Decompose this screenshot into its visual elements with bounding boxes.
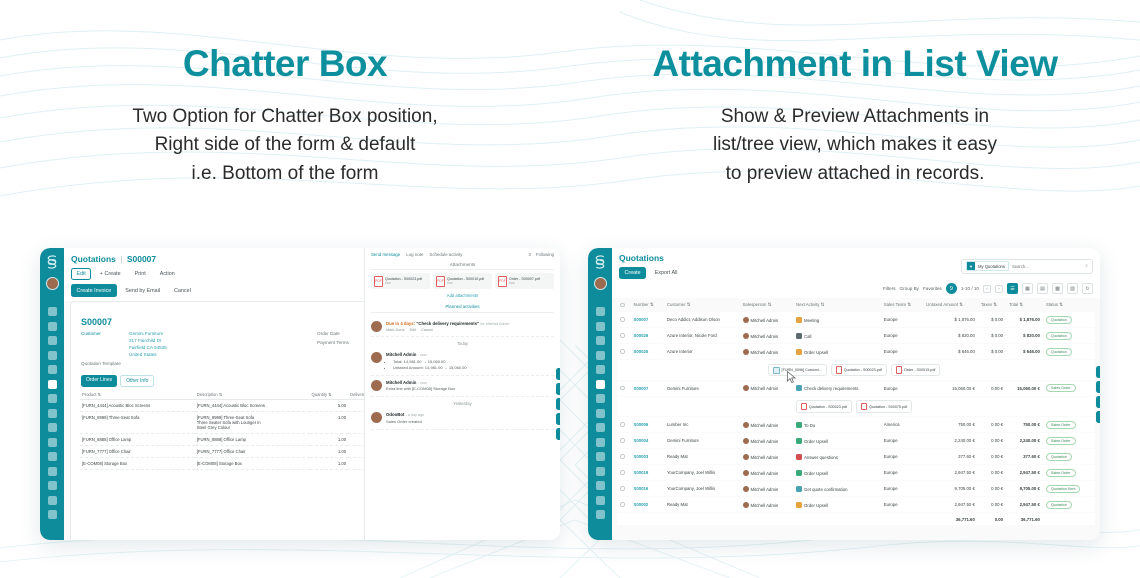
cell-total: $ 646.00 (1006, 344, 1043, 359)
pdf-icon (801, 403, 807, 411)
sidebar-item-contacts[interactable] (596, 467, 605, 476)
avatar[interactable] (46, 277, 59, 290)
settings-icon[interactable]: ⚙ (1096, 366, 1100, 378)
attachment-chip[interactable]: PDFOrder - S00007.pdfPDF (495, 273, 554, 289)
log-note-button[interactable]: Log note (406, 252, 423, 257)
message-body: Sales Order created (386, 419, 424, 425)
cell-customer: Ready Mat (664, 497, 740, 512)
action-button[interactable]: Action (154, 268, 180, 280)
column-header-untaxed-amount[interactable]: Untaxed Amount ⇅ (923, 299, 978, 311)
breadcrumb-separator: | (120, 254, 122, 264)
sidebar-item-sales[interactable] (48, 380, 57, 389)
cell-select[interactable] (617, 497, 630, 512)
field-quotation-template-label: Quotation Template (81, 361, 123, 366)
cell-status: Sales Order (1043, 381, 1095, 396)
app-logo-icon (43, 253, 61, 271)
status-badge: Sales Order (1046, 469, 1076, 477)
column-header-number[interactable]: Number ⇅ (630, 299, 663, 311)
cell-next-activity: Order Upsell (793, 344, 881, 359)
avatar (371, 412, 382, 423)
attachment-cell: [FURN_0096] Customi...Quotation - S00023… (617, 360, 1095, 380)
row-checkbox[interactable] (620, 470, 625, 475)
column-header-total[interactable]: Total ⇅ (1006, 299, 1043, 311)
search-icon[interactable]: ⌕ (1085, 263, 1088, 269)
page-title-chatter-box: Chatter Box (0, 44, 570, 85)
cell-quantity: 1.00 (310, 445, 349, 457)
cell-sales-team: Europe (881, 465, 924, 480)
attachment-type: PDF (447, 281, 484, 285)
row-checkbox[interactable] (620, 454, 625, 459)
pager-next-icon[interactable]: › (995, 285, 1003, 293)
message-bullet: Untaxed Amount: 14,981.00 → 15,060.00 (393, 365, 467, 371)
field-customer-label: Customer (81, 331, 123, 359)
sidebar-item-tag[interactable] (48, 322, 57, 331)
list-control-panel: Quotations Create Export All ▼ My Quotat… (612, 248, 1100, 298)
add-attachments-button[interactable]: Add attachments (371, 293, 554, 298)
cell-taxes: 0.00 € (978, 417, 1006, 432)
cell-description: [FURN_8999] Three-Seat Sofa Three Seater… (195, 411, 310, 433)
avatar (371, 380, 382, 391)
mark-done-button[interactable]: Mark Done (386, 328, 405, 332)
cell-select[interactable] (617, 433, 630, 448)
layers-icon[interactable]: ▤ (1096, 411, 1100, 423)
cell-number: S00004 (630, 433, 663, 448)
page-subtitle-chatter-box: Two Option for Chatter Box position, Rig… (0, 103, 570, 189)
sidebar-item-employees[interactable] (596, 481, 605, 490)
filters-dropdown[interactable]: Filters (883, 286, 896, 291)
followers-count[interactable]: 3 (528, 252, 530, 257)
status-badge: Quotation (1046, 348, 1072, 356)
cell-status: Quotation (1043, 497, 1095, 512)
row-checkbox[interactable] (620, 333, 625, 338)
cell-taxes: 0.00 € (978, 481, 1006, 496)
cell-number: S00002 (630, 497, 663, 512)
status-badge: Sales Order (1046, 437, 1076, 445)
status-badge: Sales Order (1046, 384, 1076, 392)
send-by-email-button[interactable]: Send by Email (120, 284, 166, 296)
form-view-screenshot: Quotations | S00007 1 1/1 ‹ › Edit + Cre… (40, 248, 560, 540)
create-button[interactable]: Create (619, 267, 646, 279)
cell-customer: Gemini Furniture (664, 433, 740, 448)
cell-number: S00007 (630, 312, 663, 327)
cell-next-activity: Order Upsell (793, 433, 881, 448)
cell-number: S00026 (630, 328, 663, 343)
attachments-title: Attachments (371, 262, 554, 270)
cell-untaxed-amount: $ 646.00 (923, 344, 978, 359)
message-body: Total: 14,981.00 → 15,060.00Untaxed Amou… (386, 359, 467, 371)
cell-status: Sales Order (1043, 417, 1095, 432)
attachment-name: Quotation - S00023.pdf (809, 405, 847, 409)
message-time: - now (418, 381, 427, 385)
search-facet-label: My Quotations (975, 264, 1008, 269)
cell-untaxed-amount: 9,705.00 € (923, 481, 978, 496)
cell-sales-team: Europe (881, 481, 924, 496)
search-bar[interactable]: ▼ My Quotations ⌕ (961, 259, 1093, 274)
chat-icon[interactable]: ▣ (556, 428, 560, 440)
field-customer-value[interactable]: Gemini Furniture 317 Fairchild Dr Fairfi… (129, 331, 167, 359)
cell-select[interactable] (617, 449, 630, 464)
cell-untaxed-amount: 15,060.00 € (923, 381, 978, 396)
summary-row: 36,771.600.0036,771.60 (617, 513, 1095, 525)
pager-position: 1-10 / 10 (961, 286, 979, 291)
cell-taxes: $ 0.00 (978, 344, 1006, 359)
cell-total: 377.60 € (1006, 449, 1043, 464)
cell-next-activity: Call (793, 328, 881, 343)
cell-salesperson: Mitchell Admin (740, 417, 793, 432)
sidebar-item-purchase[interactable] (596, 452, 605, 461)
create-invoice-button[interactable]: Create Invoice (71, 284, 117, 296)
table-row[interactable]: S00026Azure Interior, Nicole FordMitchel… (617, 328, 1095, 343)
cell-sales-team: Europe (881, 344, 924, 359)
planned-activities-title: Planned activities (371, 304, 554, 313)
sidebar-item-calendar[interactable] (48, 336, 57, 345)
sidebar-item-tools[interactable] (596, 423, 605, 432)
sidebar-item-inventory[interactable] (48, 394, 57, 403)
cell-salesperson: Mitchell Admin (740, 328, 793, 343)
pdf-icon: PDF (436, 276, 445, 287)
chatter-actions: Send message Log note Schedule activity (371, 252, 462, 257)
chatter-followers: 3 Following (528, 252, 554, 257)
column-header-description[interactable]: Description ⇅ (195, 390, 310, 400)
kanban-icon[interactable]: ▦ (1022, 283, 1033, 294)
cell-number: S00025 (630, 344, 663, 359)
sidebar-item-shield[interactable] (596, 365, 605, 374)
tab-order-lines[interactable]: Order Lines (81, 375, 117, 387)
list-pane: Quotations Create Export All ▼ My Quotat… (612, 248, 1100, 540)
chatter-message: Mitchell Admin - nowTotal: 14,981.00 → 1… (371, 348, 554, 376)
cell-salesperson: Mitchell Admin (740, 497, 793, 512)
cell-taxes: $ 0.00 (978, 312, 1006, 327)
filter-icon: ▼ (967, 262, 975, 270)
sidebar-item-tag[interactable] (596, 322, 605, 331)
cell-salesperson: Mitchell Admin (740, 481, 793, 496)
pdf-icon: PDF (498, 276, 507, 287)
table-row[interactable]: S00006Lumber IncMitchell AdminTo DoAmeri… (617, 417, 1095, 432)
cell-customer: YourCompany, Joel Willis (664, 481, 740, 496)
table-row[interactable]: S00007Deco Addict, Addison OlsonMitchell… (617, 312, 1095, 327)
attachment-type: PDF (509, 281, 540, 285)
cell-untaxed-amount: 2,240.00 € (923, 433, 978, 448)
column-header-product[interactable]: Product ⇅ (80, 390, 195, 400)
attachment-chip[interactable]: Quotation - S00023.pdf (796, 400, 852, 413)
cell-number: S00006 (630, 417, 663, 432)
pdf-icon: PDF (374, 276, 383, 287)
cell-select[interactable] (617, 417, 630, 432)
cell-sales-team: Europe (881, 381, 924, 396)
cell-select[interactable] (617, 344, 630, 359)
app-sidebar-left[interactable] (40, 248, 64, 540)
cell-taxes: 0.00 € (978, 433, 1006, 448)
star-icon[interactable]: ★ (556, 368, 560, 380)
unread-count-badge[interactable]: 9 (946, 283, 957, 294)
column-header-status[interactable]: Status ⇅ (1043, 299, 1095, 311)
summary-untaxed: 36,771.60 (923, 513, 978, 525)
attachment-chip[interactable]: Quotation - S00075.pdf (856, 400, 912, 413)
column-header-next-activity[interactable]: Next Activity ⇅ (793, 299, 881, 311)
field-payment-terms-label: Payment Terms (317, 340, 359, 345)
favorites-dropdown[interactable]: Favorites (923, 286, 942, 291)
cell-product: [FURN_7777] Office Chair (80, 445, 195, 457)
cell-untaxed-amount: 2,947.50 € (923, 497, 978, 512)
pdf-icon (836, 366, 842, 374)
heading-column-left: Chatter Box Two Option for Chatter Box p… (0, 0, 570, 210)
attachment-type: PDF (385, 281, 422, 285)
attachment-chip[interactable]: [FURN_0096] Customi... (768, 364, 827, 376)
cell-next-activity: To Do (793, 417, 881, 432)
table-row[interactable]: S00004Gemini FurnitureMitchell AdminOrde… (617, 433, 1095, 448)
graph-icon[interactable]: ▨ (1067, 283, 1078, 294)
message-author: Mitchell Admin (386, 380, 416, 385)
create-button[interactable]: + Create (94, 268, 126, 280)
print-button[interactable]: Print (129, 268, 151, 280)
cell-salesperson: Mitchell Admin (740, 449, 793, 464)
sidebar-item-apps[interactable] (48, 496, 57, 505)
attachment-cell: Quotation - S00023.pdfQuotation - S00075… (617, 397, 1095, 417)
attachment-row: [FURN_0096] Customi...Quotation - S00023… (617, 360, 1095, 380)
sidebar-item-reports[interactable] (596, 438, 605, 447)
sidebar-item-grid[interactable] (596, 409, 605, 418)
sidebar-item-calendar[interactable] (596, 336, 605, 345)
cell-taxes: 0.00 € (978, 465, 1006, 480)
settings-icon[interactable]: ⚙ (556, 413, 560, 425)
status-badge: Quotation (1046, 332, 1072, 340)
select-all-checkbox[interactable] (620, 303, 625, 308)
search-icon[interactable]: ⌕ (1096, 381, 1100, 393)
cancel-activity-button[interactable]: Cancel (421, 328, 433, 332)
edit-activity-button[interactable]: Edit (410, 328, 417, 332)
column-header-sales-team[interactable]: Sales Team ⇅ (881, 299, 924, 311)
sidebar-item-apps[interactable] (596, 496, 605, 505)
table-row[interactable]: S00025Azure InteriorMitchell AdminOrder … (617, 344, 1095, 359)
sidebar-item-grid[interactable] (48, 409, 57, 418)
cell-select[interactable] (617, 481, 630, 496)
status-badge: Quotation (1046, 316, 1072, 324)
cell-next-activity: Check delivery requirements (793, 381, 881, 396)
row-checkbox[interactable] (620, 422, 625, 427)
attachment-chip[interactable]: PDFQuotation - S00010.pdfPDF (433, 273, 492, 289)
cell-salesperson: Mitchell Admin (740, 433, 793, 448)
cell-untaxed-amount: 2,947.50 € (923, 465, 978, 480)
sidebar-icon-list (596, 307, 605, 519)
sidebar-item-tools[interactable] (48, 423, 57, 432)
column-header-salesperson[interactable]: Salesperson ⇅ (740, 299, 793, 311)
sidebar-item-purchase[interactable] (48, 452, 57, 461)
row-checkbox[interactable] (620, 386, 625, 391)
row-checkbox[interactable] (620, 438, 625, 443)
activity-options: Mark Done Edit Cancel (386, 328, 509, 332)
field-order-date-label: Order Date (317, 331, 359, 338)
cell-status: Quotation (1043, 328, 1095, 343)
table-row[interactable]: S00007Gemini FurnitureMitchell AdminChec… (617, 381, 1095, 396)
form-fields-left: Customer Gemini Furniture 317 Fairchild … (81, 331, 307, 369)
pivot-icon[interactable]: ▩ (1052, 283, 1063, 294)
message-author: Mitchell Admin (386, 352, 416, 357)
row-checkbox[interactable] (620, 486, 625, 491)
attachment-chip[interactable]: Quotation - S00023.pdf (831, 364, 887, 377)
cell-sales-team: Europe (881, 449, 924, 464)
cell-next-activity: Answer questions (793, 449, 881, 464)
status-badge: Sales Order (1046, 421, 1076, 429)
breadcrumb: Quotations | S00007 (71, 254, 156, 264)
avatar[interactable] (594, 277, 607, 290)
sidebar-item-reports[interactable] (48, 438, 57, 447)
cell-status: Sales Order (1043, 433, 1095, 448)
cell-customer: Azure Interior, Nicole Ford (664, 328, 740, 343)
cell-total: 750.00 € (1006, 417, 1043, 432)
cancel-button[interactable]: Cancel (169, 284, 197, 296)
cell-customer: Gemini Furniture (664, 381, 740, 396)
sidebar-item-inbox[interactable] (596, 307, 605, 316)
cell-quantity: 1.00 (310, 411, 349, 433)
cell-customer: Ready Mat (664, 449, 740, 464)
column-header-customer[interactable]: Customer ⇅ (664, 299, 740, 311)
row-checkbox[interactable] (620, 502, 625, 507)
app-sidebar-right[interactable] (588, 248, 612, 540)
schedule-activity-button[interactable]: Schedule activity (429, 252, 462, 257)
search-icon[interactable]: ⌕ (556, 383, 560, 395)
cell-customer: YourCompany, Joel Willis (664, 465, 740, 480)
heading-column-right: Attachment in List View Show & Preview A… (570, 0, 1140, 210)
edit-button[interactable]: Edit (71, 268, 91, 280)
tab-other-info[interactable]: Other Info (120, 375, 154, 387)
summary-taxes: 0.00 (978, 513, 1006, 525)
sidebar-item-book[interactable] (596, 351, 605, 360)
sidebar-item-inbox[interactable] (48, 307, 57, 316)
cell-sales-team: America (881, 417, 924, 432)
sidebar-item-book[interactable] (48, 351, 57, 360)
chatter-panel: Send message Log note Schedule activity … (364, 248, 560, 540)
attachment-row: Quotation - S00023.pdfQuotation - S00075… (617, 397, 1095, 417)
table-row[interactable]: S00002Ready MatMitchell AdminOrder Upsel… (617, 497, 1095, 512)
cell-total: 15,060.00 € (1006, 381, 1043, 396)
mouse-cursor-icon (787, 371, 796, 384)
cell-untaxed-amount: 750.00 € (923, 417, 978, 432)
table-row[interactable]: S00019YourCompany, Joel WillisMitchell A… (617, 465, 1095, 480)
cell-product: [FURN_8888] Office Lamp (80, 433, 195, 445)
table-row[interactable]: S00003Ready MatMitchell AdminAnswer ques… (617, 449, 1095, 464)
calendar-icon[interactable]: ▤ (1037, 283, 1048, 294)
sidebar-item-employees[interactable] (48, 481, 57, 490)
attachment-chip[interactable]: PDFQuotation - S00023.pdfPDF (371, 273, 430, 289)
cell-select[interactable] (617, 312, 630, 327)
sidebar-item-sales[interactable] (596, 380, 605, 389)
cell-status: Quotation (1043, 344, 1095, 359)
group-by-dropdown[interactable]: Group By (900, 286, 919, 291)
message-time: - a day ago (406, 413, 424, 417)
field-quotation-template: Quotation Template (81, 361, 307, 366)
search-facet-my-quotations[interactable]: ▼ My Quotations (966, 261, 1009, 271)
sidebar-item-settings[interactable] (596, 510, 605, 519)
message-author: OdooBot (386, 412, 404, 417)
pager-previous-icon[interactable]: ‹ (983, 285, 991, 293)
expand-icon[interactable]: ⛶ (1096, 396, 1100, 408)
cell-quantity: 1.00 (310, 433, 349, 445)
cell-status: Quotation (1043, 449, 1095, 464)
list-icon[interactable]: ☰ (1007, 283, 1018, 294)
column-header-quantity[interactable]: Quantity ⇅ (310, 390, 349, 400)
following-label[interactable]: Following (536, 252, 554, 257)
export-all-button[interactable]: Export All (649, 267, 683, 279)
avatar (371, 321, 382, 332)
form-pane: Quotations | S00007 1 1/1 ‹ › Edit + Cre… (64, 248, 560, 540)
search-input[interactable] (1012, 264, 1082, 269)
chatter-message-list: Mitchell Admin - nowTotal: 14,981.00 → 1… (371, 348, 554, 430)
message-time: - now (418, 353, 427, 357)
list-filter-row: Filters Group By Favorites 9 1-10 / 10 ‹… (619, 283, 1093, 294)
activity-item: Due in 4 days: "Check delivery requireme… (371, 317, 554, 337)
cell-taxes: 0.00 € (978, 381, 1006, 396)
cell-product: [E-COM08] Storage Box (80, 457, 195, 469)
cell-description: [FURN_8888] Office Lamp (195, 433, 310, 445)
breadcrumb: Quotations (619, 253, 683, 263)
breadcrumb-record: S00007 (127, 254, 156, 264)
column-header-taxes[interactable]: Taxes ⇅ (978, 299, 1006, 311)
cell-select[interactable] (617, 381, 630, 396)
attachment-name: Quotation - S00023.pdf (844, 368, 882, 372)
cell-product: [FURN_8999] Three-Seat Sofa (80, 411, 195, 433)
cell-total: 2,947.50 € (1006, 465, 1043, 480)
row-checkbox[interactable] (620, 317, 625, 322)
cell-customer: Lumber Inc (664, 417, 740, 432)
cell-next-activity: Order Upsell (793, 497, 881, 512)
avatar (371, 352, 382, 363)
pdf-icon (896, 366, 902, 374)
sidebar-item-settings[interactable] (48, 510, 57, 519)
cell-salesperson: Mitchell Admin (740, 344, 793, 359)
cell-select[interactable] (617, 465, 630, 480)
cell-next-activity: Get quote confirmation (793, 481, 881, 496)
cell-description: [E-COM08] Storage Box (195, 457, 310, 469)
cell-total: $ 1,876.00 (1006, 312, 1043, 327)
cell-salesperson: Mitchell Admin (740, 312, 793, 327)
status-badge: Quotation (1046, 453, 1072, 461)
activity-due: Due in 4 days: (386, 321, 415, 326)
cell-quantity: 1.00 (310, 457, 349, 469)
summary-total: 36,771.60 (1006, 513, 1043, 525)
sidebar-item-contacts[interactable] (48, 467, 57, 476)
pdf-icon (861, 403, 867, 411)
cell-status: Quotation (1043, 312, 1095, 327)
message-body: Extra line with [E-COM08] Storage Box (386, 386, 455, 392)
sidebar-icon-list (48, 307, 57, 519)
cell-taxes: $ 0.00 (978, 328, 1006, 343)
cell-number: S00019 (630, 465, 663, 480)
cell-quantity: 5.00 (310, 399, 349, 411)
table-row[interactable]: S00016YourCompany, Joel WillisMitchell A… (617, 481, 1095, 496)
sidebar-item-inventory[interactable] (596, 394, 605, 403)
list-body: S00007Deco Addict, Addison OlsonMitchell… (617, 312, 1095, 525)
cell-total: 9,705.00 € (1006, 481, 1043, 496)
status-badge: Quotation (1046, 501, 1072, 509)
expand-icon[interactable]: ⛶ (556, 398, 560, 410)
cell-select[interactable] (617, 328, 630, 343)
cell-salesperson: Mitchell Admin (740, 465, 793, 480)
send-message-button[interactable]: Send message (371, 252, 400, 257)
page-title-attachment-list-view: Attachment in List View (570, 44, 1140, 85)
breadcrumb-root[interactable]: Quotations (71, 254, 116, 264)
column-header-select (617, 299, 630, 311)
cell-salesperson: Mitchell Admin (740, 381, 793, 396)
attachment-chip[interactable]: Order - S00015.pdf (891, 364, 941, 377)
activity-icon[interactable]: ↻ (1082, 283, 1093, 294)
floating-action-buttons: ★ ⌕ ⛶ ⚙ ▣ (556, 368, 560, 440)
attachment-name: Quotation - S00075.pdf (869, 405, 907, 409)
sidebar-item-shield[interactable] (48, 365, 57, 374)
page-subtitle-attachment-list-view: Show & Preview Attachments in list/tree … (570, 103, 1140, 189)
row-checkbox[interactable] (620, 349, 625, 354)
cell-customer: Azure Interior (664, 344, 740, 359)
cell-number: S00016 (630, 481, 663, 496)
